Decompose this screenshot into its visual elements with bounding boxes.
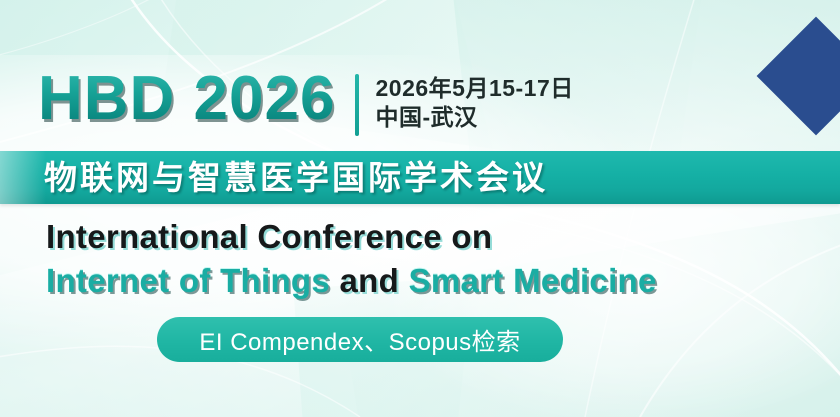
conference-acronym-title: HBD 2026	[38, 68, 341, 130]
english-title-conjunction: and	[340, 262, 400, 299]
english-title-and	[330, 262, 339, 299]
english-title-smart-medicine: Smart Medicine	[409, 262, 657, 299]
conference-location: 中国-武汉	[375, 103, 573, 132]
english-title-internet-of-things: Internet of Things	[46, 262, 330, 299]
english-title-space-2	[399, 262, 408, 299]
conference-banner: HBD 2026 2026年5月15-17日 中国-武汉 物联网与智慧医学国际学…	[0, 0, 840, 417]
chinese-conference-title: 物联网与智慧医学国际学术会议	[44, 157, 548, 199]
ribbon-fold-highlight	[0, 151, 46, 204]
conference-date: 2026年5月15-17日	[375, 74, 573, 103]
english-title-line-2: Internet of Things and Smart Medicine	[46, 262, 657, 300]
title-row: HBD 2026 2026年5月15-17日 中国-武汉	[38, 68, 574, 136]
english-title-line-1: International Conference on	[46, 218, 492, 256]
blue-diamond-decoration	[757, 17, 840, 136]
indexing-badge: EI Compendex、Scopus检索	[157, 317, 563, 362]
vertical-divider	[355, 74, 359, 136]
date-location-block: 2026年5月15-17日 中国-武汉	[375, 68, 573, 132]
indexing-badge-label: EI Compendex、Scopus检索	[199, 322, 520, 357]
